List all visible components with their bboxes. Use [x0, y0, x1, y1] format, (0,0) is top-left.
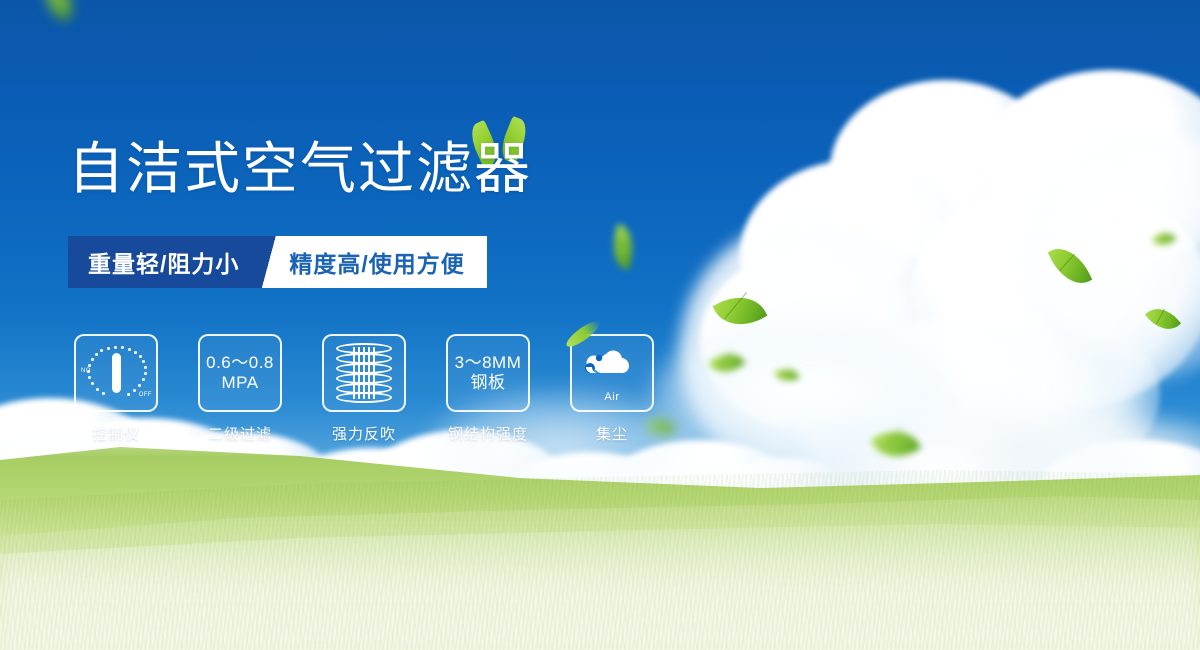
- leaf-icon-8: [871, 420, 922, 468]
- cloud-svg: [580, 343, 644, 383]
- leaf-icon-4: [774, 365, 799, 385]
- pressure-value: 0.6〜0.8: [206, 353, 274, 372]
- feature-label: 钢结构强度: [448, 423, 528, 444]
- leaf-icon-7: [1145, 300, 1181, 337]
- cloud-cumulus-right: [680, 70, 1200, 490]
- gauge-needle: [112, 353, 121, 393]
- leaf-icon-6: [1152, 228, 1176, 251]
- gauge-icon: NO OFF: [85, 344, 147, 402]
- subtitle-left: 重量轻/阻力小: [68, 236, 257, 288]
- feature-item-backblow[interactable]: 强力反吹: [316, 334, 412, 444]
- leaf-icon-5: [1048, 240, 1092, 292]
- feature-item-pressure[interactable]: 0.6〜0.8 MPA 二级过滤: [192, 334, 288, 444]
- gauge-label-off: OFF: [139, 392, 152, 398]
- steel-thickness: 3〜8MM: [455, 353, 522, 372]
- feature-list: NO OFF 控制仪 0.6〜0.8 MPA 二级过滤: [68, 334, 660, 444]
- air-cloud-icon: [580, 343, 644, 389]
- feature-label: 二级过滤: [208, 423, 272, 444]
- steel-material: 钢板: [470, 373, 505, 392]
- subtitle-right: 精度高/使用方便: [283, 236, 486, 288]
- feature-box: NO OFF: [74, 334, 158, 412]
- cloud-wisp-1: [660, 330, 960, 450]
- feature-box: 3〜8MM 钢板: [446, 334, 530, 412]
- pressure-icon: 0.6〜0.8 MPA: [206, 353, 274, 393]
- feature-item-controller[interactable]: NO OFF 控制仪: [68, 334, 164, 444]
- cartridge-icon: [336, 343, 392, 403]
- steelplate-icon: 3〜8MM 钢板: [455, 353, 522, 393]
- feature-label: 集尘: [596, 423, 628, 444]
- subtitle-wedge: [257, 236, 283, 288]
- leaf-icon-2: [713, 286, 768, 337]
- pressure-unit: MPA: [221, 373, 258, 392]
- gauge-label-on: NO: [81, 368, 91, 374]
- feature-box: [322, 334, 406, 412]
- subtitle-bar: 重量轻/阻力小 精度高/使用方便: [68, 236, 487, 288]
- feature-label: 强力反吹: [332, 423, 396, 444]
- air-label: Air: [604, 391, 619, 403]
- feature-label: 控制仪: [92, 423, 140, 444]
- leaf-icon-3: [708, 345, 745, 380]
- page-title: 自洁式空气过滤器: [68, 141, 532, 197]
- leaf-icon-1: [607, 224, 639, 270]
- feature-item-dust[interactable]: Air 集尘: [564, 334, 660, 444]
- feature-box: Air: [570, 334, 654, 412]
- feature-item-steel[interactable]: 3〜8MM 钢板 钢结构强度: [440, 334, 536, 444]
- leaf-icon-topleft: [37, 0, 81, 22]
- feature-box: 0.6〜0.8 MPA: [198, 334, 282, 412]
- promo-banner: 自洁式空气过滤器 重量轻/阻力小 精度高/使用方便: [0, 0, 1200, 650]
